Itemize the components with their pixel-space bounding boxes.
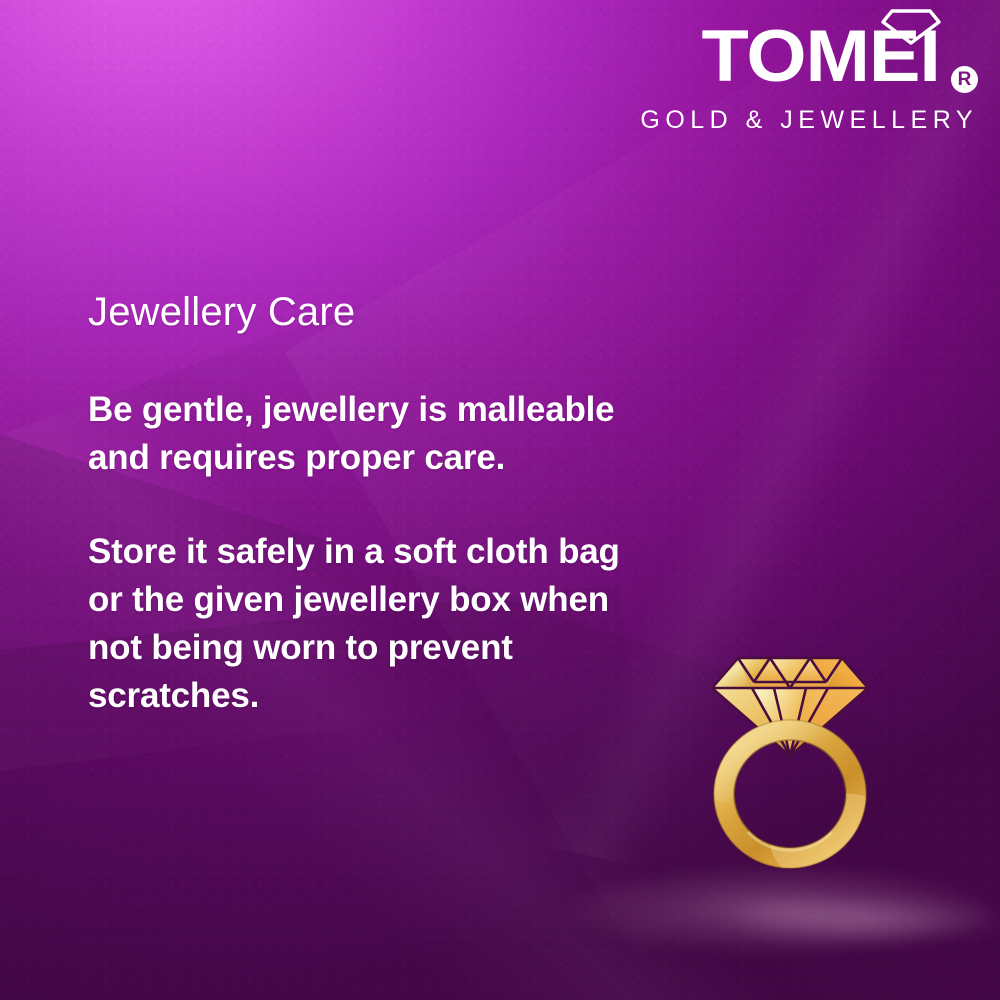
copy-block: Jewellery Care Be gentle, jewellery is m… bbox=[88, 290, 648, 720]
care-paragraph-1: Be gentle, jewellery is malleable and re… bbox=[88, 386, 648, 482]
brand-logo: TOMEI R GOLD & JEWELLERY bbox=[648, 6, 978, 92]
promo-card: TOMEI R GOLD & JEWELLERY Jewellery Care … bbox=[0, 0, 1000, 1000]
care-paragraph-2: Store it safely in a soft cloth bag or t… bbox=[88, 528, 648, 720]
page-title: Jewellery Care bbox=[88, 290, 648, 334]
diamond-ring-illustration bbox=[690, 636, 890, 916]
logo-wordmark-row: TOMEI R bbox=[648, 6, 978, 92]
diamond-icon bbox=[712, 658, 868, 756]
logo-tagline: GOLD & JEWELLERY bbox=[640, 106, 978, 135]
logo-wordmark-text: TOMEI bbox=[702, 24, 940, 90]
registered-trademark-icon: R bbox=[951, 66, 978, 93]
